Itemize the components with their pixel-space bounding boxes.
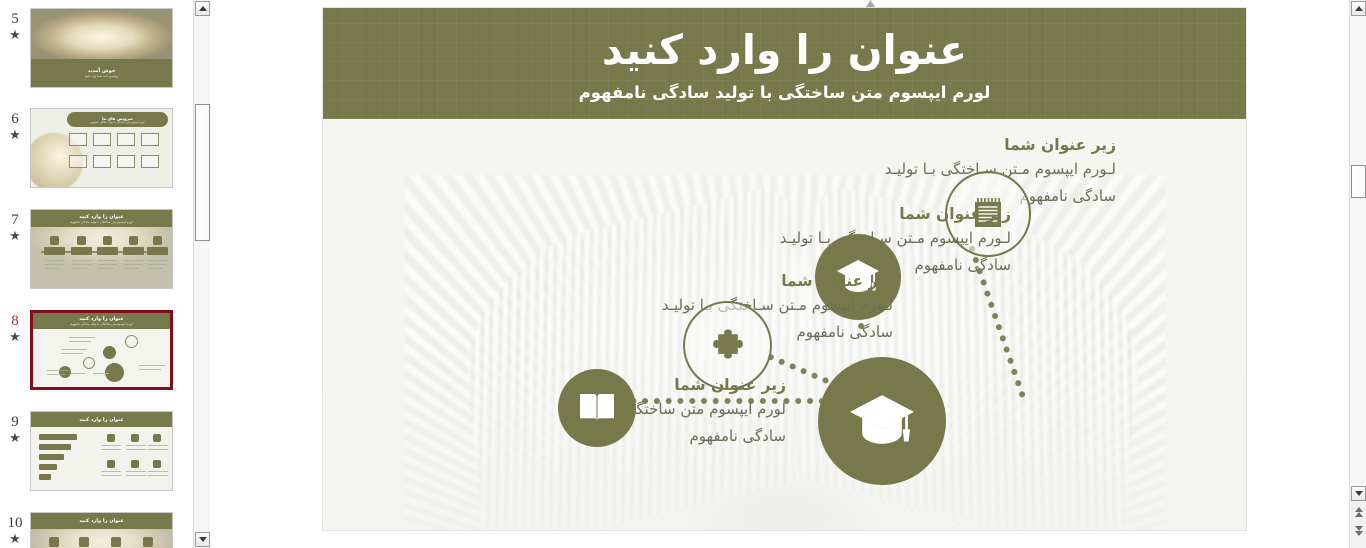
mini-title-band: عنوان را وارد کنید لورم ایپسوم متن ساختگ…	[33, 313, 170, 329]
item-body-line-2: سادگی نامفهوم	[1189, 424, 1246, 451]
mini-text-line	[72, 260, 91, 261]
mini-icon	[77, 236, 86, 245]
mini-text-line	[148, 445, 168, 446]
mini-text-line	[148, 260, 167, 261]
puzzle-piece-icon	[705, 323, 751, 369]
mini-tile	[117, 155, 135, 168]
mini-text-line	[148, 475, 168, 476]
mini-subtitle: روجیس نامه شما وارد شود	[85, 74, 119, 78]
thumbnail-slide-6[interactable]: 6 ★ سرویس های ما لورم ایپسوم متن ساختگی …	[0, 108, 193, 188]
mini-chip	[123, 247, 144, 255]
mini-chip	[97, 247, 118, 255]
slide-title[interactable]: عنوان را وارد کنید	[602, 24, 967, 76]
item-heading: زیر عنوان شما	[681, 203, 1011, 225]
thumbnail-card[interactable]: عنوان را وارد کنید لورم ایپسوم متن ساختگ…	[30, 209, 173, 289]
slide-subtitle[interactable]: لورم ایپسوم متن ساختگی با تولید سادگی نا…	[579, 82, 991, 104]
item-body-line-1: لورم ایپسوم متن ساختگی با تولید	[1189, 397, 1246, 424]
mini-node	[125, 335, 138, 348]
mini-text-line	[101, 475, 121, 476]
previous-slide-button[interactable]	[1352, 505, 1365, 518]
mini-slide: عنوان را وارد کنید	[31, 513, 172, 548]
mini-text-line	[98, 264, 117, 265]
mini-connector	[71, 373, 85, 374]
slide-stage[interactable]: عنوان را وارد کنید لورم ایپسوم متن ساختگ…	[210, 0, 1349, 548]
star-icon: ★	[9, 431, 21, 446]
thumbnail-gutter: 7 ★	[0, 209, 30, 289]
thumbnail-slide-5[interactable]: 5 ★ خوش آمدید روجیس نامه شما وارد شود	[0, 8, 193, 88]
mini-icon	[103, 236, 112, 245]
mini-connector	[93, 373, 109, 374]
mini-title-band: خوش آمدید روجیس نامه شما وارد شود	[31, 59, 172, 87]
mini-text-line	[45, 260, 64, 261]
thumbnail-card[interactable]: خوش آمدید روجیس نامه شما وارد شود	[30, 8, 173, 88]
mini-node	[59, 366, 71, 378]
mini-tile	[141, 133, 159, 146]
thumbnail-card[interactable]: عنوان را وارد کنید	[30, 512, 173, 548]
mini-text-line	[101, 471, 121, 472]
slide-number: 6	[11, 110, 19, 128]
mini-slide: عنوان را وارد کنید لورم ایپسوم متن ساختگ…	[33, 313, 170, 387]
mini-slide: سرویس های ما لورم ایپسوم متن ساختگی با ت…	[31, 109, 172, 187]
mini-text-line	[124, 264, 143, 265]
thumbnail-gutter: 9 ★	[0, 411, 30, 491]
scrollbar-down-button[interactable]	[195, 532, 210, 547]
scrollbar-track[interactable]	[1350, 16, 1366, 488]
mini-node	[103, 346, 116, 359]
scrollbar-track[interactable]	[194, 16, 210, 532]
mini-icon	[107, 434, 115, 442]
slide-number: 7	[11, 211, 19, 229]
mini-node	[83, 357, 95, 369]
mini-slide: عنوان را وارد کنید لورم ایپسوم متن ساختگ…	[31, 210, 172, 288]
item-heading: زیر عنوان شما	[786, 134, 1116, 156]
mini-bar	[39, 464, 57, 470]
mini-title: عنوان را وارد کنید	[79, 518, 124, 524]
double-triangle-up-icon	[1355, 507, 1363, 517]
mini-text-line	[45, 264, 64, 265]
mini-text-line	[148, 268, 163, 269]
thumbnail-gutter: 5 ★	[0, 8, 30, 88]
mini-text-line	[69, 337, 95, 338]
mini-text-line	[126, 449, 146, 450]
item-heading: زیر عنوان شما	[1189, 375, 1246, 397]
node-graduation-cap-large[interactable]	[818, 357, 946, 485]
thumbnail-card[interactable]: سرویس های ما لورم ایپسوم متن ساختگی با ت…	[30, 108, 173, 188]
mini-icon	[153, 434, 161, 442]
mini-icon	[129, 236, 138, 245]
mini-icon	[50, 236, 59, 245]
mini-text-line	[45, 268, 60, 269]
open-book-icon	[576, 390, 618, 426]
triangle-down-icon	[1355, 491, 1363, 496]
graduation-cap-icon	[847, 389, 917, 453]
thumbnail-slide-9[interactable]: 9 ★ عنوان را وارد کنید	[0, 411, 193, 491]
thumbnail-gutter: 6 ★	[0, 108, 30, 188]
mini-text-line	[139, 369, 161, 370]
mini-chip	[44, 247, 65, 255]
mini-text-line	[148, 449, 168, 450]
mini-slide: عنوان را وارد کنید	[31, 412, 172, 490]
star-icon: ★	[9, 229, 21, 244]
mini-icon	[79, 537, 89, 547]
thumbnail-gutter: 8 ★	[0, 310, 30, 390]
mini-icon	[153, 460, 161, 468]
mini-text-line	[148, 264, 167, 265]
mini-text-line	[126, 471, 146, 472]
mini-text-line	[124, 260, 143, 261]
mini-bar	[39, 444, 71, 450]
mini-text-line	[101, 445, 121, 446]
slide-thumbnail-pane[interactable]: 5 ★ خوش آمدید روجیس نامه شما وارد شود 6 …	[0, 0, 193, 548]
mini-text-line	[148, 471, 168, 472]
mini-slide: خوش آمدید روجیس نامه شما وارد شود	[31, 9, 172, 87]
thumbnail-scrollbar[interactable]	[193, 0, 210, 548]
slide-number: 8	[11, 312, 19, 330]
thumbnail-slide-10[interactable]: 10 ★ عنوان را وارد کنید	[0, 512, 193, 548]
mini-tile	[93, 155, 111, 168]
mini-tile	[93, 133, 111, 146]
mini-text-line	[126, 475, 146, 476]
mini-subtitle: لورم ایپسوم متن ساختگی با تولید سادگی نا…	[91, 121, 145, 124]
mini-text-line	[124, 268, 139, 269]
item-body-line-1: لـورم ایپسوم مـتن سـاختگی بـا تولیـد	[786, 156, 1116, 183]
mini-text-line	[69, 341, 91, 342]
mini-icon	[143, 537, 153, 547]
node-open-book[interactable]	[558, 369, 636, 447]
mini-bar	[39, 454, 64, 460]
mini-title-band: عنوان را وارد کنید	[31, 412, 172, 427]
mini-title: عنوان را وارد کنید	[79, 417, 124, 423]
mini-bar	[39, 474, 51, 480]
mini-icon	[49, 537, 59, 547]
mini-text-line	[72, 268, 87, 269]
text-block-item-5[interactable]: زیر عنوان شما لورم ایپسوم متن ساختگی با …	[1189, 375, 1246, 451]
star-icon: ★	[9, 128, 21, 143]
mini-text-line	[61, 353, 83, 354]
mini-icon	[131, 460, 139, 468]
slide-number: 9	[11, 413, 19, 431]
next-slide-button[interactable]	[1352, 524, 1365, 537]
triangle-up-icon	[1355, 6, 1363, 11]
mini-text-line	[47, 370, 69, 371]
mini-text-line	[98, 268, 113, 269]
triangle-up-icon	[199, 6, 207, 11]
scrollbar-thumb[interactable]	[1351, 165, 1366, 198]
thumbnail-card-selected[interactable]: عنوان را وارد کنید لورم ایپسوم متن ساختگ…	[30, 310, 173, 390]
mini-subtitle: لورم ایپسوم متن ساختگی با تولید سادگی نا…	[70, 322, 132, 326]
application-window: 5 ★ خوش آمدید روجیس نامه شما وارد شود 6 …	[0, 0, 1366, 548]
mini-chip	[71, 247, 92, 255]
mini-bar	[39, 434, 77, 440]
slide-canvas[interactable]: عنوان را وارد کنید لورم ایپسوم متن ساختگ…	[323, 8, 1246, 530]
thumbnail-slide-8[interactable]: 8 ★ عنوان را وارد کنید لورم ایپسوم متن س…	[0, 310, 193, 390]
mini-icon	[153, 236, 162, 245]
slide-number: 10	[8, 514, 23, 532]
thumbnail-card[interactable]: عنوان را وارد کنید	[30, 411, 173, 491]
mini-title-band: سرویس های ما لورم ایپسوم متن ساختگی با ت…	[67, 112, 168, 127]
mini-tile	[69, 133, 87, 146]
triangle-down-icon	[199, 537, 207, 542]
mini-title-band: عنوان را وارد کنید	[31, 513, 172, 529]
star-icon: ★	[9, 330, 21, 345]
mini-icon	[111, 537, 121, 547]
mini-text-line	[47, 374, 65, 375]
mini-text-line	[126, 445, 146, 446]
thumbnail-slide-7[interactable]: 7 ★ عنوان را وارد کنید لورم ایپسوم متن س…	[0, 209, 193, 289]
main-scrollbar[interactable]	[1349, 0, 1366, 548]
mini-text-line	[139, 365, 165, 366]
mini-text-line	[61, 349, 87, 350]
mini-tile	[141, 155, 159, 168]
mini-subtitle: لورم ایپسوم متن ساختگی با تولید سادگی نا…	[70, 220, 132, 224]
thumbnail-gutter: 10 ★	[0, 512, 30, 548]
mini-title-band: عنوان را وارد کنید لورم ایپسوم متن ساختگ…	[31, 210, 172, 227]
double-triangle-down-icon	[1355, 526, 1363, 536]
star-icon: ★	[9, 28, 21, 43]
mini-chip	[147, 247, 168, 255]
mini-icon	[107, 460, 115, 468]
slide-title-band[interactable]: عنوان را وارد کنید لورم ایپسوم متن ساختگ…	[323, 8, 1246, 119]
mini-tile	[69, 155, 87, 168]
item-heading: زیر عنوان شما	[563, 270, 893, 292]
mini-text-line	[101, 449, 121, 450]
scrollbar-thumb[interactable]	[195, 104, 210, 241]
mini-icon	[131, 434, 139, 442]
scrollbar-down-button[interactable]	[1351, 486, 1366, 501]
mini-tile	[117, 133, 135, 146]
mini-text-line	[72, 264, 91, 265]
scrollbar-up-button[interactable]	[1351, 1, 1366, 16]
star-icon: ★	[9, 532, 21, 547]
mini-text-line	[98, 260, 117, 261]
scrollbar-up-button[interactable]	[195, 1, 210, 16]
slide-number: 5	[11, 10, 19, 28]
cursor-marker-icon	[866, 0, 875, 7]
